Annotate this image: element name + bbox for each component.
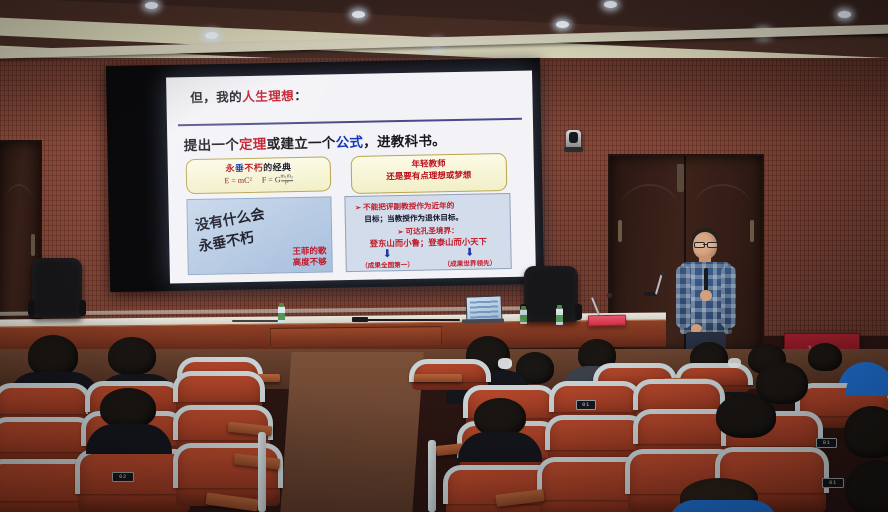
bottle-cap (557, 305, 562, 309)
bottle-label (556, 315, 563, 322)
subtitle-part-d: 公式 (335, 134, 363, 150)
box-eternal-header: 永垂不朽的经典 (187, 160, 330, 176)
audience-head-foreground (844, 406, 888, 458)
chair-armrest (28, 300, 35, 316)
audience-head (108, 337, 156, 375)
desk-microphone-head-2 (661, 272, 665, 276)
slide-title-plain: 但，我的 (190, 90, 242, 105)
subtitle-part-a: 提出一个 (184, 137, 239, 153)
bottle-label (520, 315, 527, 322)
downlight (352, 11, 365, 18)
executive-chair-center[interactable] (524, 266, 578, 322)
door-handle (677, 164, 684, 192)
hdr-char-d: 的经典 (263, 163, 291, 174)
audience-head-foreground (846, 460, 888, 512)
bottle-cap (521, 306, 526, 310)
goal-notes: （成果全国第一） （成果世界领先） (346, 257, 511, 270)
bullet-icon: ➢ (397, 229, 403, 236)
handwriting-caption-1: 王菲的歌 (292, 245, 326, 257)
seat-trim (0, 383, 91, 414)
center-aisle (280, 352, 423, 512)
seat-number-plate: 02 (112, 472, 134, 482)
laptop-base (462, 319, 504, 324)
face-mask (728, 358, 741, 368)
seat-number-plate: 01 (822, 478, 844, 488)
down-arrow-icon: ⬇ (465, 245, 474, 258)
door-handle (618, 220, 622, 242)
camera-lens (569, 132, 578, 143)
slide-title-highlight: 人生理想 (242, 89, 294, 104)
goal-bullet-2-text: 可达孔圣境界： (405, 226, 458, 236)
panel-handwriting: 没有什么会 永垂不朽 王菲的歌 高度不够 (187, 196, 333, 275)
audience-head (28, 335, 78, 377)
door-handle (750, 220, 754, 242)
laptop-screen-content (469, 299, 498, 318)
goal-note-left: （成果全国第一） (361, 259, 414, 270)
seat-support-column (258, 432, 266, 512)
desk-cable (366, 319, 460, 321)
water-bottle-2 (556, 308, 563, 325)
downlight (604, 1, 617, 8)
presenter-hand-mic (700, 290, 712, 301)
hdr-char-c: 不朽 (244, 163, 263, 173)
desk-microphone-head (607, 293, 612, 298)
door-handle (31, 234, 35, 256)
audience-head (808, 343, 842, 371)
box-young-teacher: 年轻教师 还是要有点理想或梦想 (351, 153, 507, 194)
slide-subtitle: 提出一个定理或建立一个公式，进教科书。 (184, 129, 447, 154)
formula-gravity-denominator: r² (281, 181, 294, 187)
audience-head-foreground (756, 362, 808, 404)
audience-shoulders-foreground (86, 424, 172, 454)
formula-gravity: F = G (262, 176, 281, 185)
chair-armrest (79, 300, 86, 316)
slide-divider (178, 118, 522, 126)
young-teacher-line2: 还是要有点理想或梦想 (352, 169, 506, 183)
handwriting-caption-2: 高度不够 (293, 257, 327, 269)
chair-armrest (575, 304, 582, 320)
seat-trim (633, 379, 725, 410)
presenter-glasses-right (707, 242, 718, 248)
bullet-icon: ➢ (355, 205, 361, 212)
water-bottle-3 (520, 309, 527, 324)
audience-head-foreground (474, 398, 526, 436)
desk-cable (232, 320, 278, 322)
goal-bullet-1-red: 不能把评副教授作为近年的 (363, 201, 454, 212)
downlight (556, 21, 569, 28)
executive-chair-left[interactable] (32, 258, 82, 318)
downlight (838, 11, 851, 18)
presenter-glasses-bridge (703, 244, 707, 245)
audience-shoulders-foreground-blue (668, 500, 778, 512)
stage-desk-front-panel (270, 326, 442, 347)
bottle-label (278, 313, 285, 320)
door-arch-detail (3, 184, 35, 212)
slide-title: 但，我的人生理想： (190, 85, 307, 106)
desk-name-plaque (588, 315, 626, 327)
subtitle-part-e: ，进教科书。 (363, 133, 446, 150)
down-arrow-icon: ⬇ (383, 247, 392, 260)
audience-shoulders-foreground (458, 432, 542, 462)
hdr-char-b: 垂 (235, 163, 245, 173)
seat-trim (173, 371, 265, 402)
seat-number-plate: 01 (576, 400, 596, 410)
seat-support-column (428, 440, 436, 512)
panel-goals: ➢ 不能把评副教授作为近年的 目标；当教授作为退休目标。 ➢ 可达孔圣境界： 登… (344, 192, 512, 271)
face-mask (498, 358, 512, 369)
subtitle-part-b: 定理 (239, 136, 267, 152)
goal-bullet-1: ➢ 不能把评副教授作为近年的 目标；当教授作为退休目标。 (355, 199, 504, 225)
door-arch-detail (619, 184, 680, 212)
seat-trim (545, 415, 647, 450)
presenter-arm-left (676, 266, 691, 328)
seat-number-plate: 01 (816, 438, 837, 448)
wall-camera-icon (566, 130, 581, 148)
box-eternal-classics: 永垂不朽的经典 E = mC² F = G m₁m₂ r² (186, 157, 331, 195)
handwriting-caption: 王菲的歌 高度不够 (292, 245, 326, 269)
presenter-arm-right (721, 266, 736, 328)
camera-mount (564, 147, 583, 152)
subtitle-part-c: 或建立一个 (266, 135, 335, 151)
water-bottle-1 (278, 306, 285, 323)
lecture-hall-photo: 但，我的人生理想： 提出一个定理或建立一个公式，进教科书。 永垂不朽的经典 E … (0, 0, 888, 512)
presentation-slide: 但，我的人生理想： 提出一个定理或建立一个公式，进教科书。 永垂不朽的经典 E … (166, 71, 536, 284)
door-arch-detail (692, 184, 753, 212)
box-eternal-formulas: E = mC² F = G m₁m₂ r² (187, 174, 330, 189)
hdr-char-a: 永 (225, 164, 235, 174)
bottle-cap (279, 303, 284, 307)
slide-title-colon: ： (294, 89, 307, 103)
goal-note-right: （成果世界领先） (443, 258, 496, 269)
downlight (145, 2, 158, 9)
presenter-glasses-left (694, 242, 705, 248)
formula-emc2: E = mC² (224, 176, 252, 186)
downlight (205, 32, 218, 39)
row-desk (414, 374, 462, 382)
audience-head-foreground (100, 388, 156, 428)
goal-bullet-1-rest: 目标；当教授作为退休目标。 (355, 211, 503, 225)
